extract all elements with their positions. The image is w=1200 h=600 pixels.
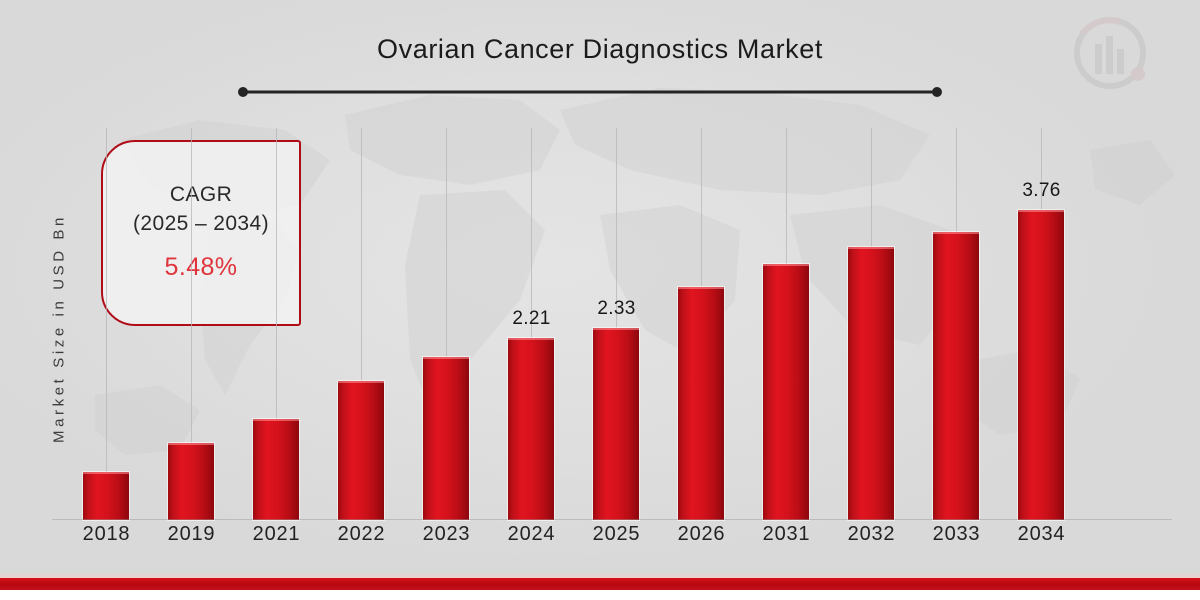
gridline (106, 128, 107, 472)
bar-slot (319, 110, 404, 520)
bar-slot (404, 110, 489, 520)
x-tick-2031: 2031 (744, 523, 829, 546)
x-tick-2021: 2021 (234, 523, 319, 546)
x-axis: 2018201920212022202320242025202620312032… (52, 523, 1172, 557)
bar-2019[interactable] (168, 443, 214, 520)
bar-slot: 3.76 (999, 110, 1084, 520)
axis-baseline (52, 519, 1172, 520)
gridline (786, 128, 787, 264)
bar-slot (64, 110, 149, 520)
bar-value-label-2024: 2.21 (489, 308, 574, 330)
gridline (276, 128, 277, 419)
bar-2024[interactable] (508, 338, 554, 520)
bar-slot (149, 110, 234, 520)
gridline (446, 128, 447, 357)
gridline (956, 128, 957, 232)
bar-value-label-2034: 3.76 (999, 180, 1084, 202)
bar-2034[interactable] (1018, 210, 1064, 520)
bars-container: 2.212.333.76 (52, 110, 1172, 520)
bar-2032[interactable] (848, 247, 894, 520)
x-tick-2034: 2034 (999, 523, 1084, 546)
bar-2033[interactable] (933, 232, 979, 520)
x-tick-2018: 2018 (64, 523, 149, 546)
gridline (191, 128, 192, 443)
bar-2025[interactable] (593, 328, 639, 520)
x-tick-2019: 2019 (149, 523, 234, 546)
gridline (871, 128, 872, 247)
bar-slot (914, 110, 999, 520)
ovarian-cancer-diagnostics-market-infographic: Ovarian Cancer Diagnostics Market Market… (0, 0, 1200, 600)
chart-title: Ovarian Cancer Diagnostics Market (0, 34, 1200, 65)
bar-2022[interactable] (338, 381, 384, 520)
title-underline-rule (237, 84, 943, 94)
x-tick-2023: 2023 (404, 523, 489, 546)
x-tick-2033: 2033 (914, 523, 999, 546)
gridline (361, 128, 362, 381)
title-block: Ovarian Cancer Diagnostics Market (0, 34, 1200, 65)
gridline (701, 128, 702, 287)
bar-slot: 2.21 (489, 110, 574, 520)
gridline (531, 128, 532, 338)
bar-2018[interactable] (83, 472, 129, 520)
bottom-red-stripe (0, 578, 1200, 590)
x-tick-2022: 2022 (319, 523, 404, 546)
plot-area: 2.212.333.76 (52, 110, 1172, 520)
x-tick-2032: 2032 (829, 523, 914, 546)
x-tick-2026: 2026 (659, 523, 744, 546)
chart-plate: Ovarian Cancer Diagnostics Market Market… (0, 0, 1200, 578)
bar-2021[interactable] (253, 419, 299, 520)
x-tick-2024: 2024 (489, 523, 574, 546)
bar-2023[interactable] (423, 357, 469, 520)
bar-slot (744, 110, 829, 520)
bar-slot (659, 110, 744, 520)
bar-value-label-2025: 2.33 (574, 298, 659, 320)
bar-slot: 2.33 (574, 110, 659, 520)
bar-2026[interactable] (678, 287, 724, 520)
x-tick-2025: 2025 (574, 523, 659, 546)
bar-slot (234, 110, 319, 520)
bar-2031[interactable] (763, 264, 809, 520)
bar-slot (829, 110, 914, 520)
